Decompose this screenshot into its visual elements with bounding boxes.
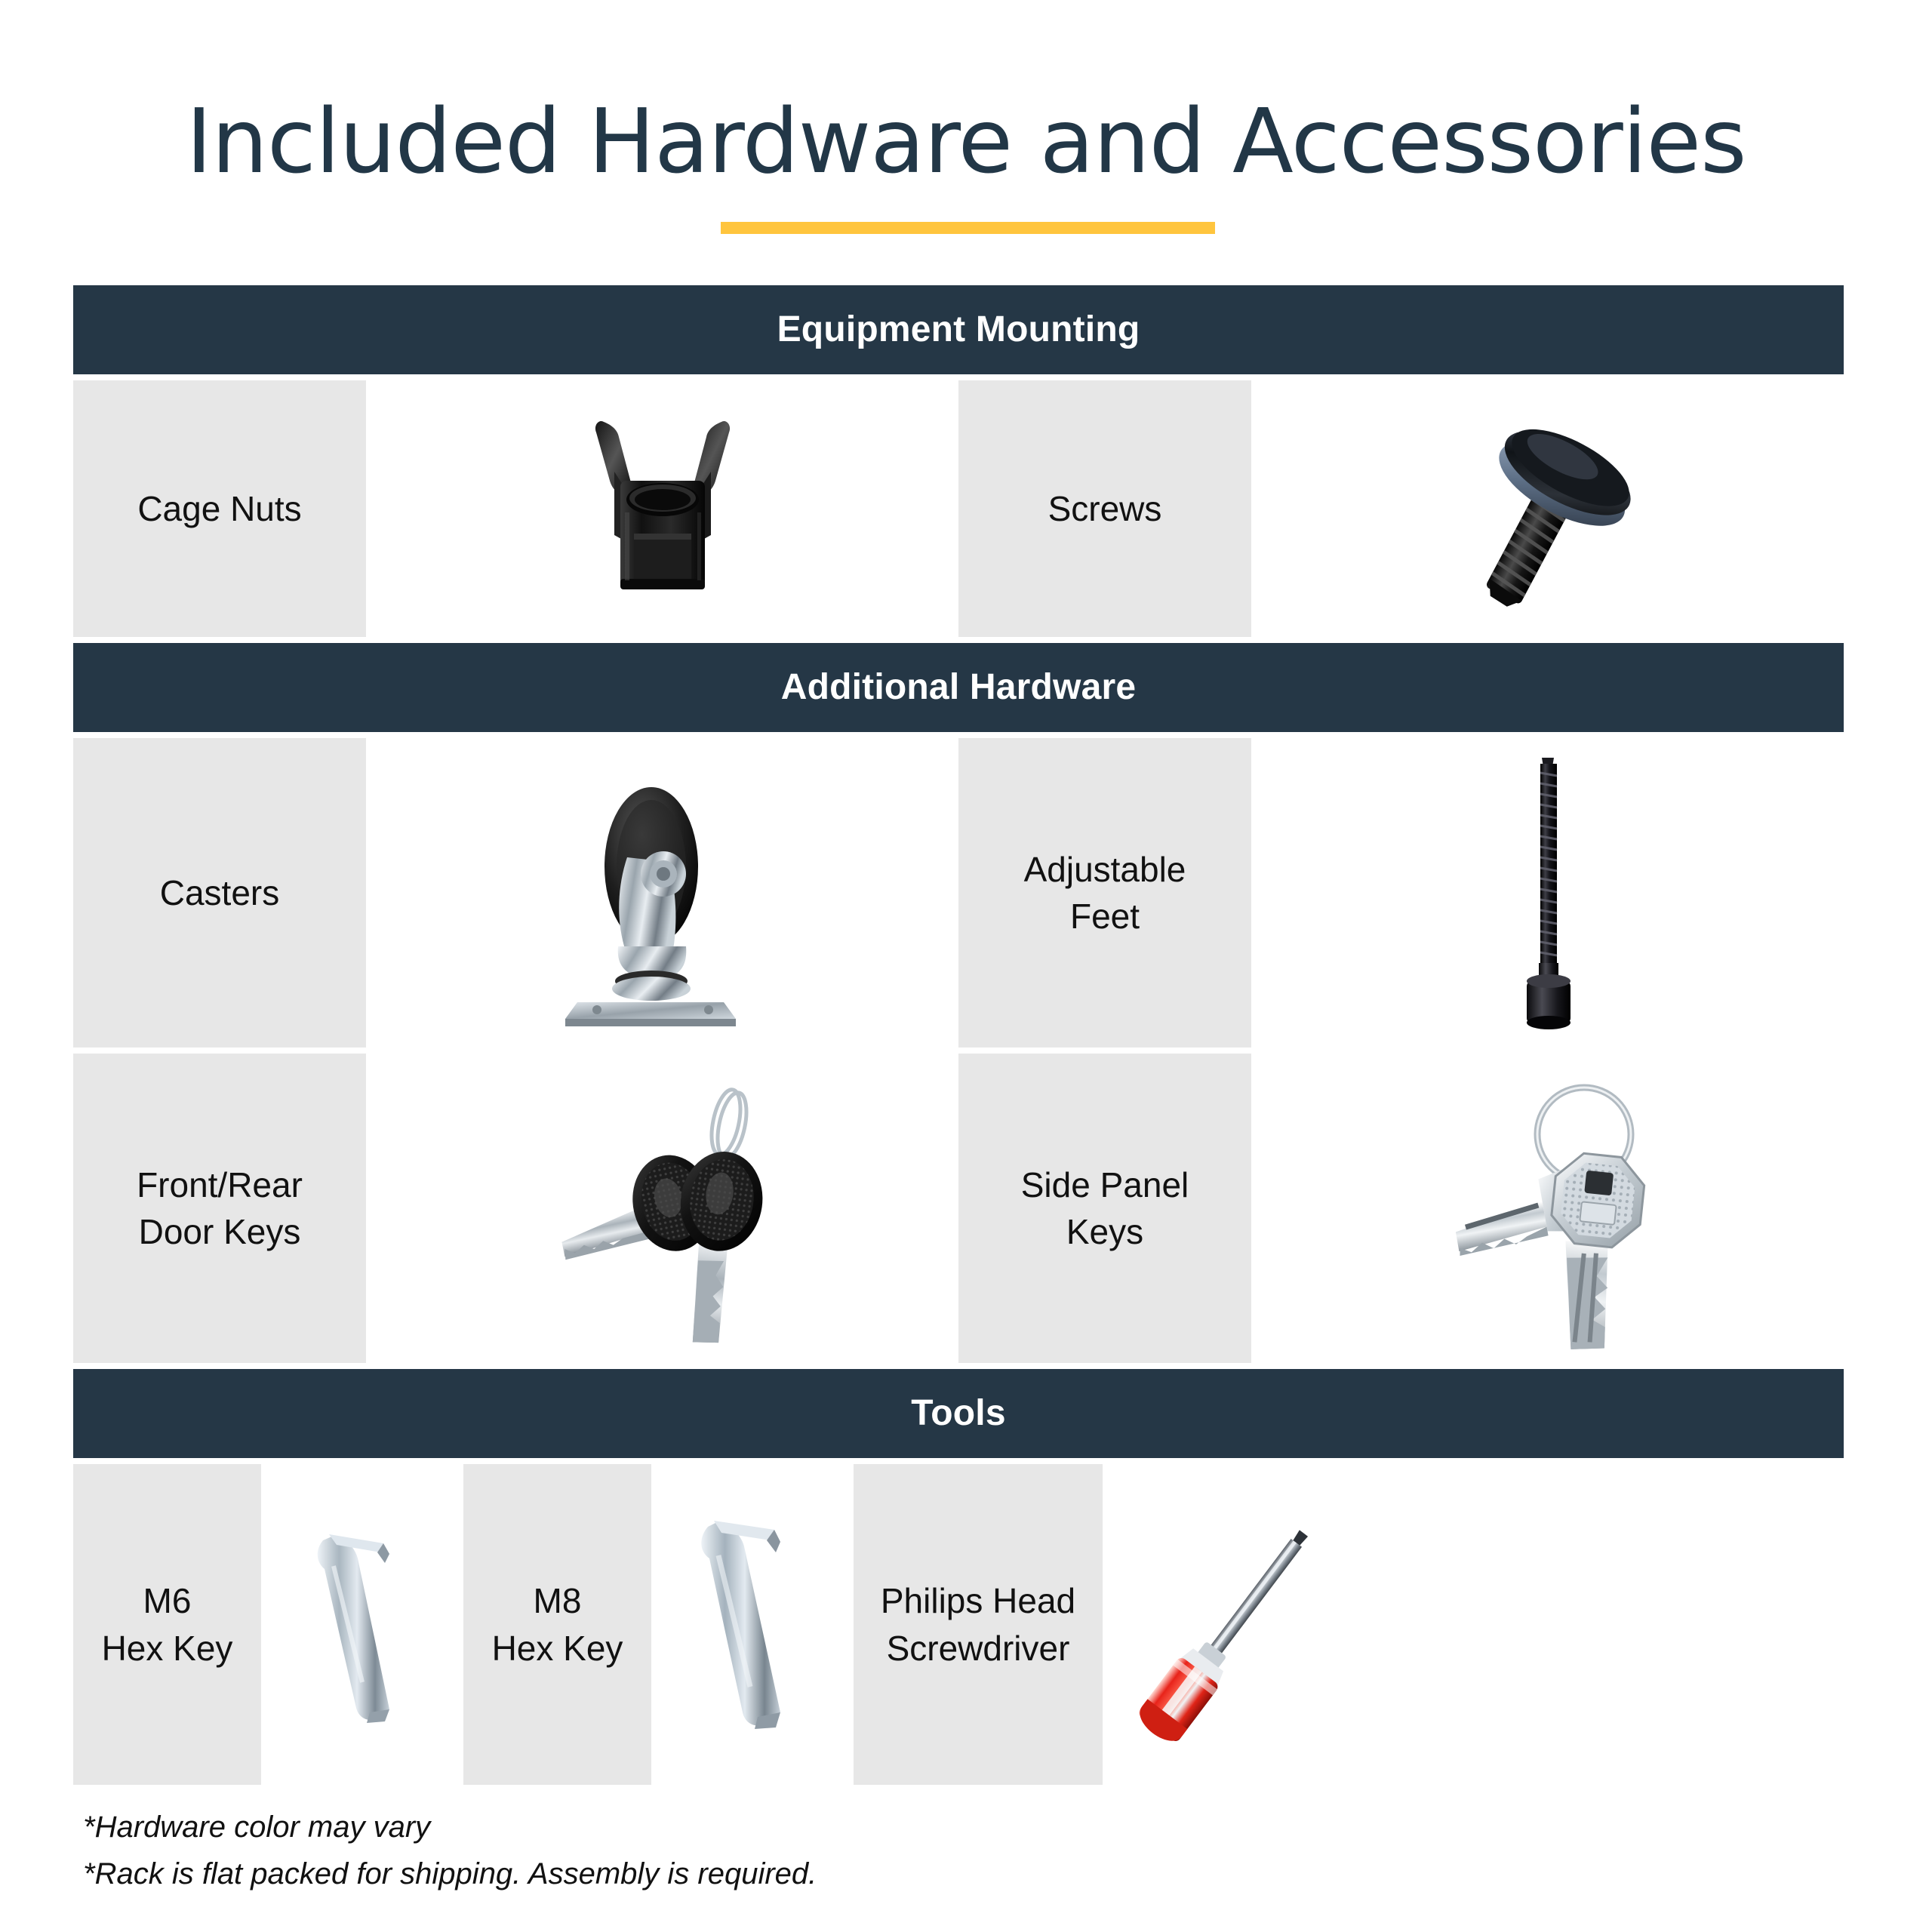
row-divider (73, 637, 1844, 643)
label-line-2: Door Keys (139, 1212, 301, 1251)
label-line-1: M6 (143, 1581, 192, 1620)
item-label-front-rear-door-keys: Front/Rear Door Keys (73, 1054, 366, 1363)
label-line-1: M8 (534, 1581, 582, 1620)
door-keys-icon (512, 1072, 814, 1344)
item-image-adjustable-feet (1251, 738, 1844, 1048)
item-label-side-panel-keys: Side Panel Keys (958, 1054, 1251, 1363)
screwdriver-icon (1110, 1497, 1359, 1753)
section-header-equipment-mounting: Equipment Mounting (73, 285, 1844, 374)
row-divider (73, 1048, 1844, 1054)
label-line-1: Front/Rear (137, 1165, 303, 1204)
section-header-tools: Tools (73, 1369, 1844, 1458)
row-divider (73, 1363, 1844, 1369)
section-header-additional-hardware: Additional Hardware (73, 643, 1844, 732)
item-image-philips-head-screwdriver (1103, 1464, 1367, 1785)
item-label-casters: Casters (73, 738, 366, 1048)
footnote-hardware-color: *Hardware color may vary (83, 1804, 817, 1850)
item-image-m8-hex-key (651, 1464, 854, 1785)
label-line-1: Adjustable (1024, 850, 1186, 889)
screw-icon (1423, 395, 1672, 622)
item-label-screws: Screws (958, 380, 1251, 637)
item-image-casters (366, 738, 958, 1048)
page-title: Included Hardware and Accessories (0, 89, 1932, 193)
caster-icon (538, 753, 787, 1032)
item-image-side-panel-keys (1251, 1054, 1844, 1363)
label-line-2: Hex Key (492, 1629, 623, 1668)
adjustable-foot-icon (1495, 753, 1601, 1032)
label-line-1: Side Panel (1021, 1165, 1189, 1204)
title-accent-bar (721, 222, 1215, 234)
label-line-2: Hex Key (102, 1629, 233, 1668)
label-line-2: Feet (1070, 897, 1140, 936)
hex-key-m8-icon (673, 1489, 832, 1761)
side-panel-keys-icon (1397, 1065, 1699, 1352)
hex-key-m6-icon (287, 1497, 438, 1753)
row-divider (73, 374, 1844, 380)
footnote-flat-packed: *Rack is flat packed for shipping. Assem… (83, 1850, 817, 1897)
item-label-m6-hex-key: M6 Hex Key (73, 1464, 261, 1785)
label-line-1: Philips Head (881, 1581, 1075, 1620)
item-image-cage-nuts (366, 380, 958, 637)
cage-nut-icon (549, 399, 776, 618)
item-image-screws (1251, 380, 1844, 637)
footnotes: *Hardware color may vary *Rack is flat p… (83, 1804, 817, 1897)
infographic-page: Included Hardware and Accessories Equipm… (0, 0, 1932, 1932)
item-image-front-rear-door-keys (366, 1054, 958, 1363)
label-line-2: Screwdriver (887, 1629, 1070, 1668)
table-row: Front/Rear Door Keys (73, 1054, 1844, 1363)
label-line-2: Keys (1066, 1212, 1143, 1251)
table-row: Cage Nuts (73, 380, 1844, 637)
table-row: Casters (73, 738, 1844, 1048)
item-label-cage-nuts: Cage Nuts (73, 380, 366, 637)
item-label-philips-head-screwdriver: Philips Head Screwdriver (854, 1464, 1103, 1785)
item-label-adjustable-feet: Adjustable Feet (958, 738, 1251, 1048)
item-label-m8-hex-key: M8 Hex Key (463, 1464, 651, 1785)
table-row: M6 Hex Key (73, 1464, 1844, 1785)
item-image-m6-hex-key (261, 1464, 463, 1785)
hardware-table: Equipment Mounting Cage Nuts (73, 285, 1844, 1785)
row-divider (73, 1458, 1844, 1464)
row-divider (73, 732, 1844, 738)
